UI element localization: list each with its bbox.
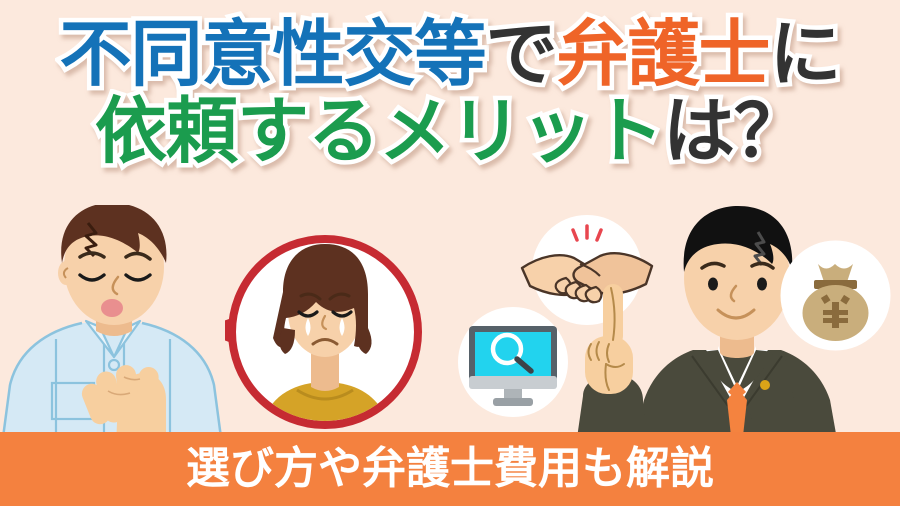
lawyer-badge-icon bbox=[760, 380, 770, 390]
distressed-man-illustration bbox=[0, 205, 240, 445]
pointing-hand-illustration bbox=[565, 278, 665, 438]
crying-woman-speech-bubble bbox=[225, 232, 425, 432]
thumbnail-canvas: 不同意性交等で弁護士に 依頼するメリットは？ 選び方や弁護士費用も解説 bbox=[0, 0, 900, 506]
open-mouth bbox=[101, 299, 123, 317]
monitor-search-icon bbox=[452, 305, 574, 420]
money-bag-icon bbox=[778, 238, 893, 353]
bottom-banner: 選び方や弁護士費用も解説 bbox=[0, 432, 900, 506]
bottom-banner-text: 選び方や弁護士費用も解説 bbox=[186, 447, 714, 491]
illustration-layer bbox=[0, 0, 900, 506]
